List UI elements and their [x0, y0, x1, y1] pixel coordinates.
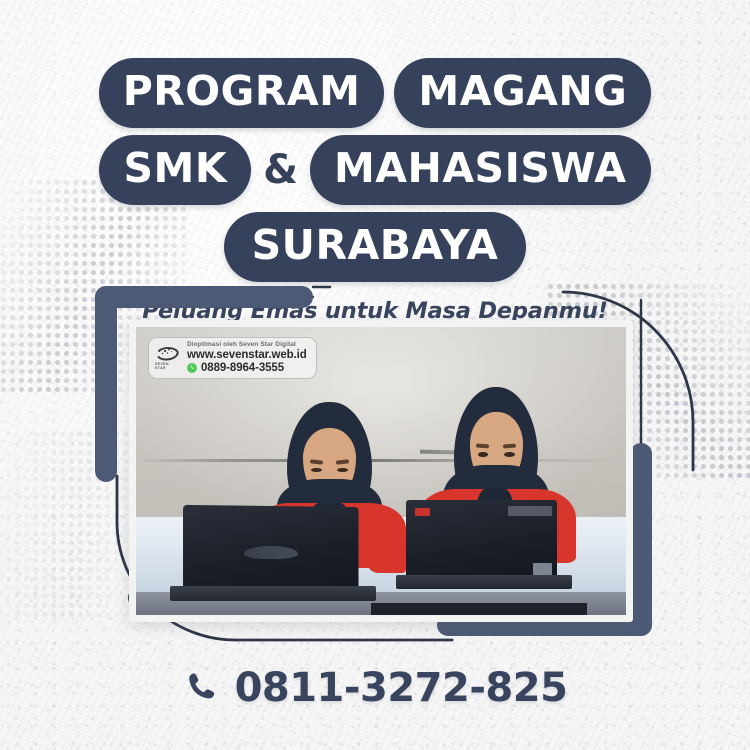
watermark-badge: SEVEN STAR Dioptimasi oleh Seven Star Di… [148, 337, 317, 379]
person-left-eye-left [311, 468, 322, 472]
watermark-website: www.sevenstar.web.id [187, 349, 307, 361]
scene-floor-shadow [371, 603, 587, 615]
watermark-text-lines: Dioptimasi oleh Seven Star Digital www.s… [187, 342, 307, 374]
contact-phone-number[interactable]: 0811-3272-825 [235, 668, 568, 708]
whatsapp-icon [187, 363, 197, 373]
frame-bracket-bottom-right-vertical [630, 443, 652, 636]
internship-photo: SEVEN STAR Dioptimasi oleh Seven Star Di… [129, 320, 633, 622]
laptop-left-logo [244, 546, 298, 559]
laptop-right-brand-logo [508, 506, 552, 516]
laptop-right-base [396, 575, 572, 589]
seven-star-swoosh-icon [156, 346, 180, 363]
person-right-eyebrow-right [503, 443, 516, 448]
laptop-left-base [170, 586, 376, 600]
contact-block[interactable]: 0811-3272-825 [0, 668, 750, 708]
watermark-tagline: Dioptimasi oleh Seven Star Digital [187, 342, 307, 349]
phone-icon [183, 670, 219, 706]
poster-canvas: PROGRAM MAGANG SMK & MAHASISWA SURABAYA … [0, 0, 750, 750]
whatsapp-glyph-icon [189, 364, 196, 371]
photo-frame-block: SEVEN STAR Dioptimasi oleh Seven Star Di… [0, 0, 750, 750]
frame-bracket-top-left-vertical [95, 286, 117, 482]
person-right-eyebrow-left [476, 443, 489, 448]
watermark-phone-row: 0889-8964-3555 [187, 362, 307, 374]
seven-star-logo-icon: SEVEN STAR [155, 345, 181, 371]
person-left-arm [367, 537, 407, 572]
laptop-right-sticker [533, 563, 553, 575]
laptop-right-indicator [415, 508, 430, 515]
watermark-phone-number: 0889-8964-3555 [201, 362, 284, 374]
seven-star-logo-text: SEVEN STAR [155, 362, 181, 370]
frame-bracket-top-left-horizontal [95, 286, 313, 308]
